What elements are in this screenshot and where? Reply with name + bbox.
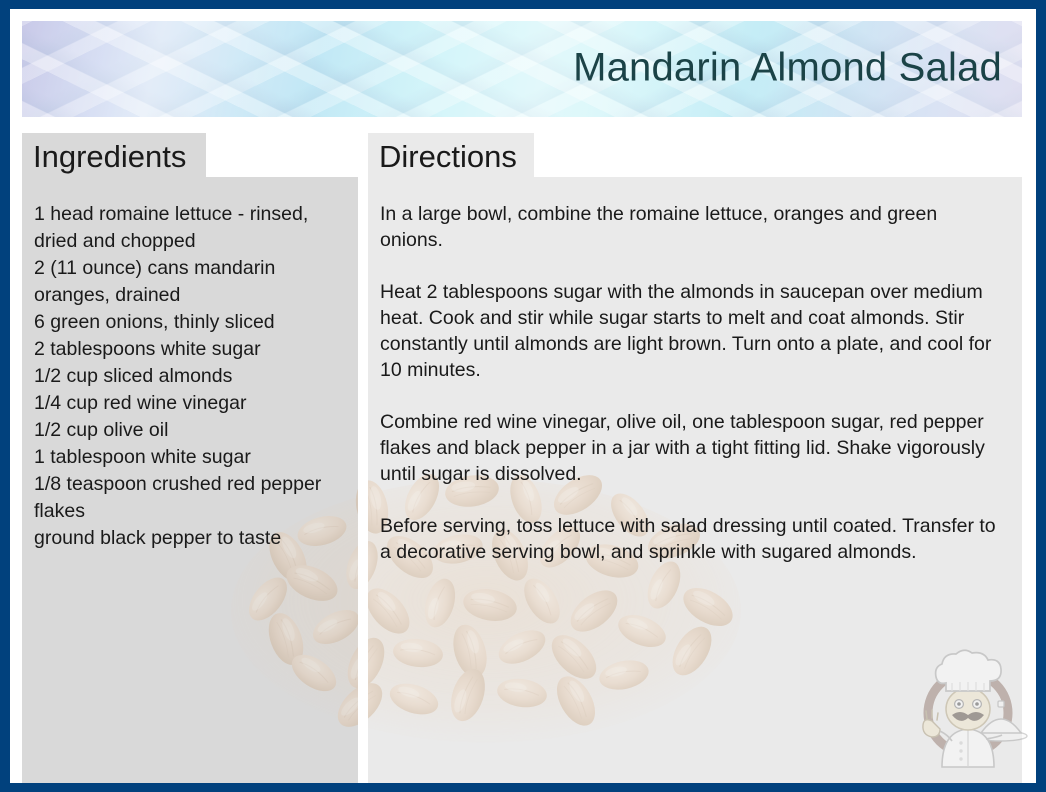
direction-step: Heat 2 tablespoons sugar with the almond… (380, 279, 998, 383)
list-item: 1 tablespoon white sugar (34, 444, 348, 471)
ingredients-panel: 1 head romaine lettuce - rinsed, dried a… (22, 177, 358, 783)
directions-content: In a large bowl, combine the romaine let… (368, 177, 1022, 565)
list-item: 1/2 cup olive oil (34, 417, 348, 444)
list-item: 2 (11 ounce) cans mandarin oranges, drai… (34, 255, 348, 309)
list-item: 6 green onions, thinly sliced (34, 309, 348, 336)
directions-panel: In a large bowl, combine the romaine let… (368, 177, 1022, 783)
list-item: 1/8 teaspoon crushed red pepper flakes (34, 471, 348, 525)
directions-heading: Directions (368, 133, 534, 177)
ingredients-heading: Ingredients (22, 133, 206, 177)
directions-heading-label: Directions (379, 139, 517, 174)
ingredients-heading-label: Ingredients (33, 139, 186, 174)
recipe-card: Mandarin Almond Salad 1 head romaine let… (10, 9, 1036, 783)
ingredients-list: 1 head romaine lettuce - rinsed, dried a… (34, 201, 348, 552)
list-item: 1/4 cup red wine vinegar (34, 390, 348, 417)
column-gutter (358, 177, 368, 783)
directions-steps: In a large bowl, combine the romaine let… (380, 201, 1012, 565)
ingredients-content: 1 head romaine lettuce - rinsed, dried a… (22, 177, 358, 552)
direction-step: Before serving, toss lettuce with salad … (380, 513, 998, 565)
list-item: 2 tablespoons white sugar (34, 336, 348, 363)
header-banner: Mandarin Almond Salad (22, 21, 1022, 117)
direction-step: Combine red wine vinegar, olive oil, one… (380, 409, 998, 487)
list-item: ground black pepper to taste (34, 525, 348, 552)
list-item: 1/2 cup sliced almonds (34, 363, 348, 390)
direction-step: In a large bowl, combine the romaine let… (380, 201, 998, 253)
list-item: 1 head romaine lettuce - rinsed, dried a… (34, 201, 348, 255)
page-title: Mandarin Almond Salad (573, 46, 1002, 91)
